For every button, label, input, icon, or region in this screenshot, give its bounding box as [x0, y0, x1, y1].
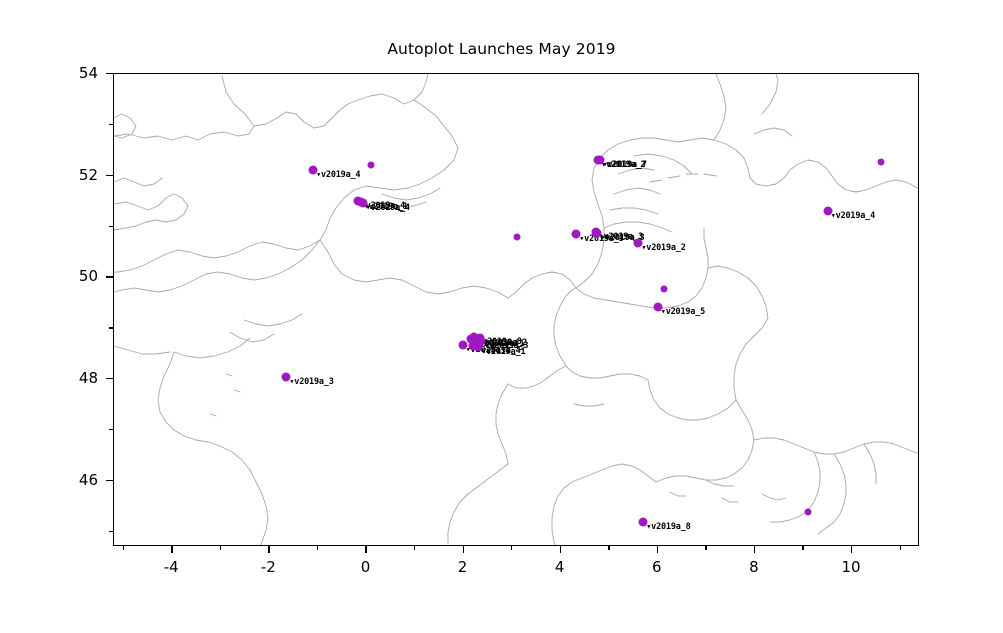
data-point-label: ▾v2019a_7 [603, 161, 647, 170]
data-point-marker [514, 233, 521, 240]
data-point-marker [805, 509, 812, 516]
x-tick-minor [900, 546, 901, 550]
x-tick-major [268, 546, 269, 553]
data-point-label: ▾v2019a_2 [641, 244, 685, 253]
y-tick-minor [109, 531, 113, 532]
y-tick-label: 46 [79, 471, 98, 489]
page-title: Autoplot Launches May 2019 [0, 40, 1003, 58]
y-tick-minor [109, 327, 113, 328]
data-point-label: ▾v2019a_5 [661, 308, 705, 317]
x-axis-tick-labels: -4-20246810 [113, 558, 919, 588]
basemap-coastlines [114, 74, 919, 546]
x-tick-major [851, 546, 852, 553]
y-tick-minor [109, 124, 113, 125]
x-tick-major [560, 546, 561, 553]
x-tick-major [657, 546, 658, 553]
x-tick-minor [802, 546, 803, 550]
y-tick-major [106, 276, 113, 277]
x-tick-major [171, 546, 172, 553]
x-tick-label: 6 [652, 558, 662, 576]
data-point-label: ▾v2019a_3 [289, 378, 333, 387]
data-point-marker [878, 158, 885, 165]
figure-canvas: Autoplot Launches May 2019 [0, 0, 1003, 633]
y-tick-minor [109, 226, 113, 227]
x-tick-label: 0 [361, 558, 371, 576]
y-tick-major [106, 175, 113, 176]
x-tick-minor [123, 546, 124, 550]
y-tick-minor [109, 429, 113, 430]
x-tick-minor [705, 546, 706, 550]
y-tick-label: 52 [79, 166, 98, 184]
plot-area: ▾v2019a_4▾v2019a_4▾v2019a_1▾v2019a_4▾v20… [113, 73, 919, 546]
data-point-label: ▾v2019a_4 [831, 212, 875, 221]
y-tick-major [106, 73, 113, 74]
data-point-label: ▾v2019a_1 [481, 348, 525, 357]
y-tick-major [106, 480, 113, 481]
x-tick-major [365, 546, 366, 553]
x-tick-minor [608, 546, 609, 550]
x-tick-label: 4 [555, 558, 565, 576]
x-tick-label: -2 [261, 558, 276, 576]
data-point-marker [660, 285, 667, 292]
data-point-label: ▾v2019a_4 [316, 171, 360, 180]
x-tick-minor [414, 546, 415, 550]
x-tick-major [463, 546, 464, 553]
x-tick-label: 8 [749, 558, 759, 576]
x-tick-minor [317, 546, 318, 550]
y-axis-tick-labels: 4648505254 [0, 73, 98, 546]
x-tick-label: -4 [164, 558, 179, 576]
x-tick-label: 2 [458, 558, 468, 576]
x-tick-major [754, 546, 755, 553]
y-tick-label: 48 [79, 369, 98, 387]
y-tick-major [106, 378, 113, 379]
x-tick-label: 10 [841, 558, 860, 576]
y-tick-label: 54 [79, 64, 98, 82]
y-tick-label: 50 [79, 267, 98, 285]
data-point-marker [368, 161, 375, 168]
x-tick-minor [511, 546, 512, 550]
data-point-label: ▾v2019a_4 [366, 204, 410, 213]
x-tick-minor [220, 546, 221, 550]
data-point-label: ▾v2019a_8 [646, 523, 690, 532]
